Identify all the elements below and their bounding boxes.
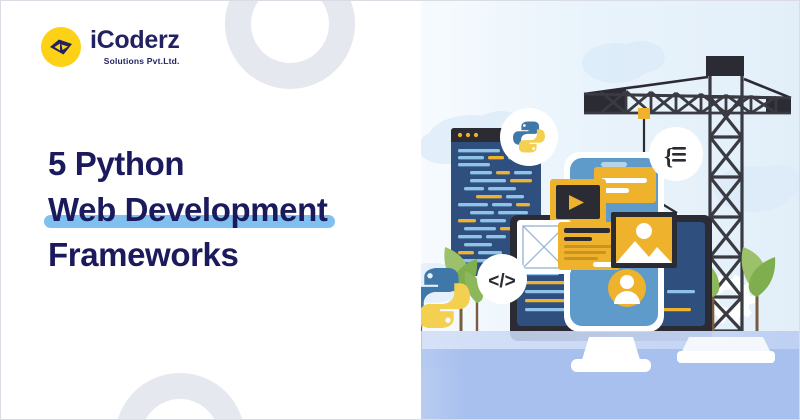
crane-footing <box>681 337 771 353</box>
decor-ring-bottom <box>115 373 245 420</box>
sun-icon <box>636 223 652 239</box>
text-panel: iCoderz Solutions Pvt.Ltd. 5 Python Web … <box>1 1 421 420</box>
headline-line-2: Web Development <box>48 191 327 228</box>
python-logo-small <box>500 108 558 166</box>
icoderz-arrow-logo-icon <box>41 27 81 67</box>
svg-text:{: { <box>664 144 673 169</box>
window-dots <box>458 133 478 137</box>
brand-name: iCoderz <box>90 28 180 53</box>
headline-line-2-wrap: Web Development <box>48 187 327 233</box>
hanging-image-card <box>611 212 677 268</box>
headline-line-3: Frameworks <box>48 232 327 278</box>
code-tag-badge: </> <box>477 254 527 304</box>
crane-cab <box>706 56 744 76</box>
phone-speaker <box>601 162 627 167</box>
yellow-text-card <box>558 222 620 270</box>
user-avatar-badge <box>608 269 646 307</box>
decor-ring-top <box>225 0 355 89</box>
brand-tagline: Solutions Pvt.Ltd. <box>90 57 180 66</box>
svg-text:</>: </> <box>488 271 515 292</box>
code-bracket-badge: { <box>649 127 703 181</box>
blog-banner: { </> <box>0 0 800 420</box>
brand-logo[interactable]: iCoderz Solutions Pvt.Ltd. <box>41 27 180 67</box>
monitor-base <box>571 359 651 372</box>
page-title: 5 Python Web Development Frameworks <box>48 141 327 278</box>
headline-line-1: 5 Python <box>48 141 327 187</box>
video-player-card <box>550 179 606 225</box>
crane-foot-plate <box>677 351 775 363</box>
